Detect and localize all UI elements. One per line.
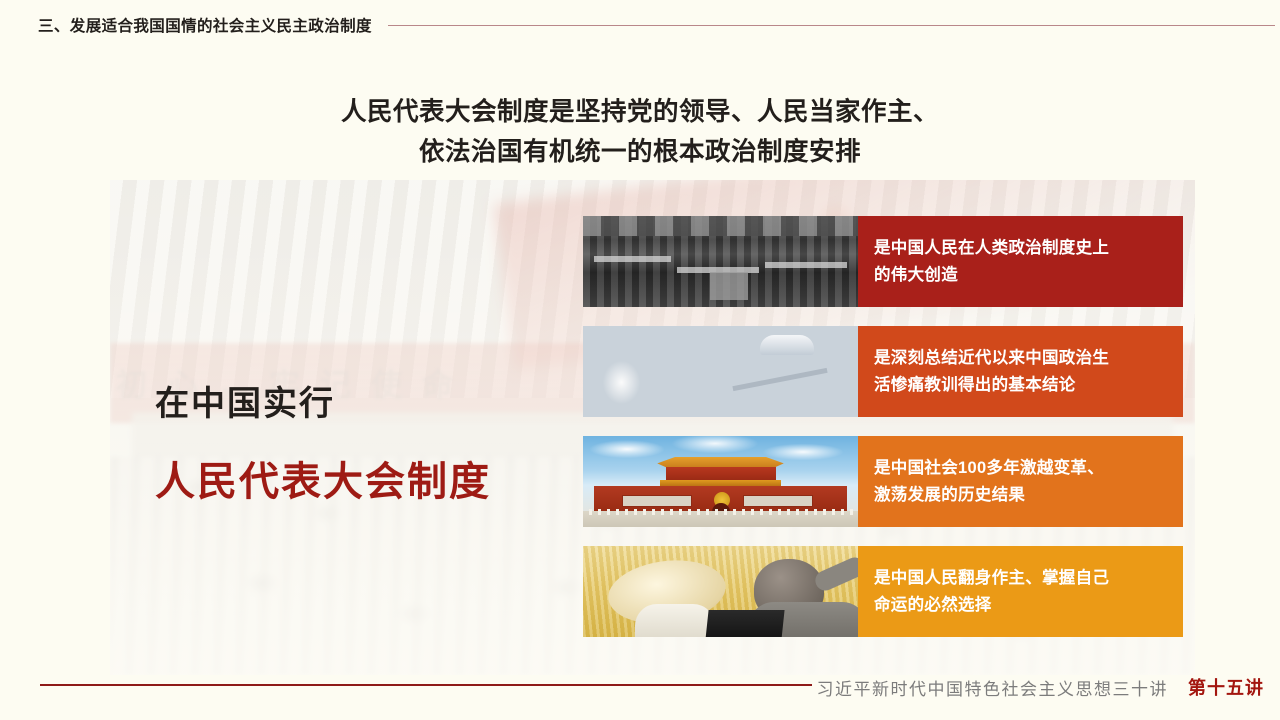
point-1-line1: 是中国人民在人类政治制度史上 (874, 235, 1167, 262)
relief-rifle (732, 368, 827, 391)
point-panel-1: 是中国人民在人类政治制度史上 的伟大创造 (858, 216, 1183, 307)
list-item[interactable]: 是深刻总结近代以来中国政治生 活惨痛教训得出的基本结论 (583, 326, 1183, 417)
stone-relief-sculpture-photo (583, 326, 858, 417)
lecture-badge: 第十五讲 (1188, 674, 1264, 700)
point-2-line2: 活惨痛教训得出的基本结论 (874, 372, 1167, 399)
list-item[interactable]: 是中国人民在人类政治制度史上 的伟大创造 (583, 216, 1183, 307)
laptop (705, 610, 784, 637)
hall-podium (710, 272, 749, 299)
gate-slogan-right (743, 495, 814, 507)
section-title: 三、发展适合我国国情的社会主义民主政治制度 (38, 14, 372, 36)
relief-cap (760, 335, 814, 355)
wheat-field-farmers-photo (583, 546, 858, 637)
header-rule (388, 25, 1275, 26)
point-2-line1: 是深刻总结近代以来中国政治生 (874, 345, 1167, 372)
page-title: 人民代表大会制度是坚持党的领导、人民当家作主、 依法治国有机统一的根本政治制度安… (0, 92, 1280, 172)
farmer-left-body (635, 604, 715, 637)
point-list: 是中国人民在人类政治制度史上 的伟大创造 是深刻总结近代以来中国政治生 活惨痛教… (583, 216, 1183, 637)
slide-root: 三、发展适合我国国情的社会主义民主政治制度 人民代表大会制度是坚持党的领导、人民… (0, 0, 1280, 720)
point-4-line1: 是中国人民翻身作主、掌握自己 (874, 565, 1167, 592)
list-item[interactable]: 是中国人民翻身作主、掌握自己 命运的必然选择 (583, 546, 1183, 637)
point-panel-2: 是深刻总结近代以来中国政治生 活惨痛教训得出的基本结论 (858, 326, 1183, 417)
farmer-pointing-arm (812, 554, 858, 593)
left-caption-line2: 人民代表大会制度 (155, 449, 491, 507)
content-frame: 初心，牢记使命 在中国实行 人民代表大会制度 是中国人民在人类政治制度 (110, 180, 1195, 675)
gate-fence (589, 509, 853, 515)
series-title: 习近平新时代中国特色社会主义思想三十讲 (817, 675, 1169, 700)
tiananmen-gate-photo (583, 436, 858, 527)
page-title-line1: 人民代表大会制度是坚持党的领导、人民当家作主、 (341, 98, 939, 126)
point-3-line2: 激荡发展的历史结果 (874, 482, 1167, 509)
point-1-line2: 的伟大创造 (874, 262, 1167, 289)
slide-header: 三、发展适合我国国情的社会主义民主政治制度 (0, 8, 1280, 42)
list-item[interactable]: 是中国社会100多年激越变革、 激荡发展的历史结果 (583, 436, 1183, 527)
left-caption: 在中国实行 人民代表大会制度 (155, 376, 491, 507)
point-panel-3: 是中国社会100多年激越变革、 激荡发展的历史结果 (858, 436, 1183, 527)
footer-rule (40, 684, 812, 686)
point-panel-4: 是中国人民翻身作主、掌握自己 命运的必然选择 (858, 546, 1183, 637)
hall-tier (765, 262, 848, 268)
page-title-line2: 依法治国有机统一的根本政治制度安排 (0, 132, 1280, 172)
point-3-line1: 是中国社会100多年激越变革、 (874, 455, 1167, 482)
hall-tier (594, 256, 671, 262)
gate-slogan-left (622, 495, 693, 507)
hall-arches (583, 216, 858, 236)
slide-footer: 习近平新时代中国特色社会主义思想三十讲 第十五讲 (0, 676, 1280, 720)
left-caption-line1: 在中国实行 (155, 376, 491, 425)
point-4-line2: 命运的必然选择 (874, 592, 1167, 619)
historic-assembly-hall-photo (583, 216, 858, 307)
